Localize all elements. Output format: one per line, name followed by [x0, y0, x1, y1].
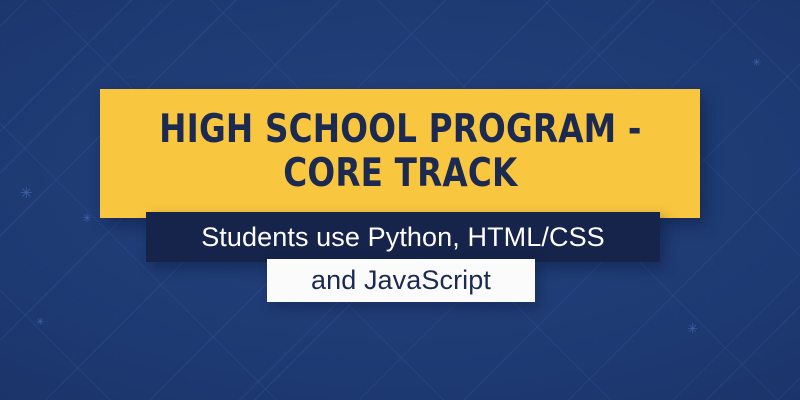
banner-subtitle-line-2: and JavaScript: [311, 267, 491, 294]
sparkle-icon-4: ✳: [752, 58, 761, 69]
title-plate: HIGH SCHOOL PROGRAM - CORE TRACK: [100, 89, 700, 218]
banner-subtitle-line-1: Students use Python, HTML/CSS: [201, 224, 605, 251]
subtitle-band-light: and JavaScript: [267, 259, 535, 302]
sparkle-icon-3: ✳: [687, 322, 698, 335]
banner-title: HIGH SCHOOL PROGRAM - CORE TRACK: [159, 108, 641, 195]
sparkle-icon-1: ✳: [20, 186, 33, 201]
promo-banner: ✳ ✳ ✳ ✳ ✳ HIGH SCHOOL PROGRAM - CORE TRA…: [0, 0, 800, 400]
subtitle-band-dark: Students use Python, HTML/CSS: [146, 212, 660, 262]
sparkle-icon-5: ✳: [36, 318, 44, 328]
sparkle-icon-2: ✳: [82, 212, 92, 224]
